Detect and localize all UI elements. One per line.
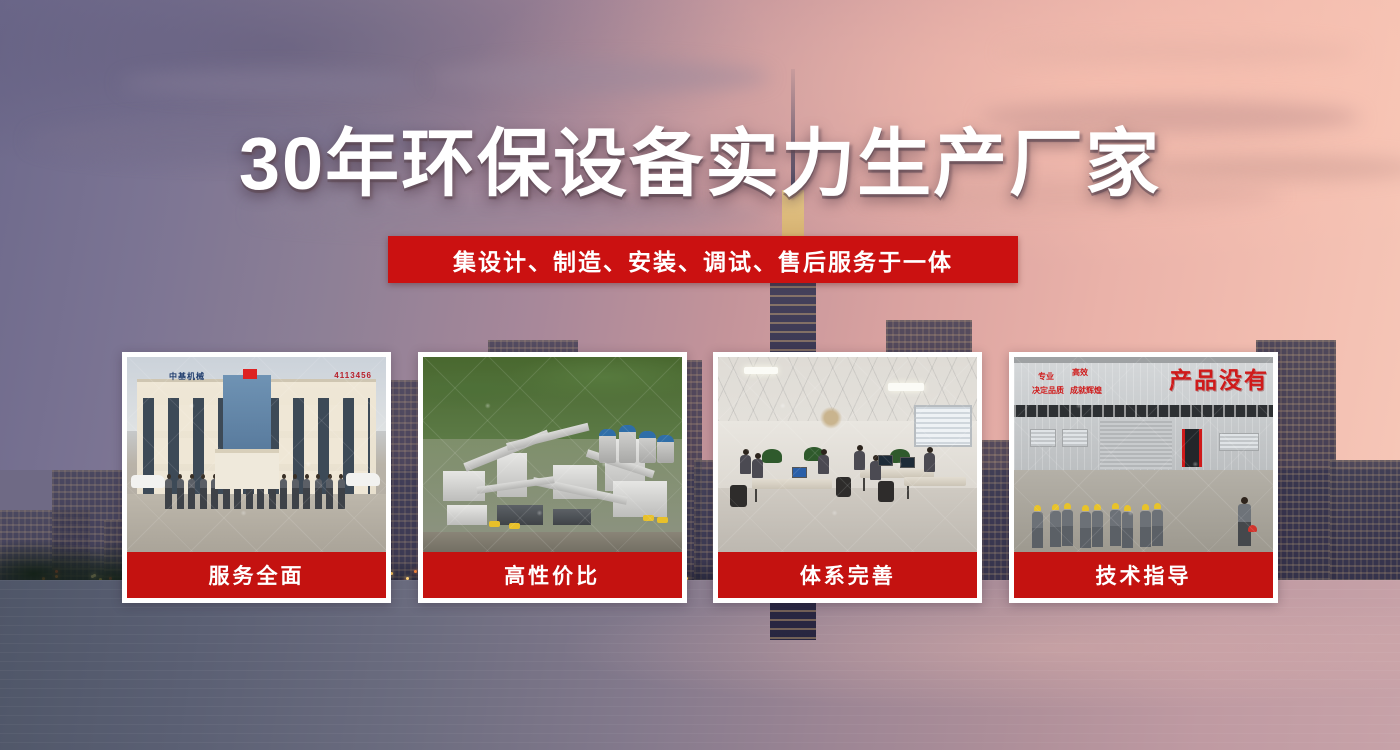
factory-worker xyxy=(1110,510,1121,546)
building-sign-text: 中基机械 xyxy=(169,371,205,382)
computer-monitor xyxy=(792,467,807,478)
card-photo-company-office-building-with-staff: 中基机械 4113456 xyxy=(127,357,386,552)
storage-silo xyxy=(599,429,616,463)
factory-window xyxy=(1030,429,1056,447)
plant-structures xyxy=(437,419,669,529)
red-helmet-icon xyxy=(1248,525,1257,532)
building-phone-text: 4113456 xyxy=(334,371,372,380)
staff-person xyxy=(177,479,184,509)
factory-window xyxy=(1062,429,1088,447)
staff-person xyxy=(280,479,287,509)
card-caption-text: 服务全面 xyxy=(209,560,305,590)
excavator-vehicle xyxy=(643,515,654,521)
factory-worker xyxy=(1062,510,1073,546)
card-caption-bar: 服务全面 xyxy=(127,552,386,598)
staff-person xyxy=(165,479,172,509)
potted-plant xyxy=(762,449,782,463)
staff-person xyxy=(326,479,333,509)
card-caption-text: 技术指导 xyxy=(1095,560,1191,590)
excavator-vehicle xyxy=(509,523,520,529)
parked-car xyxy=(346,473,380,486)
card-photo-aerial-industrial-plant xyxy=(423,357,682,552)
conveyor-belt xyxy=(506,423,589,451)
factory-shutter-door xyxy=(1100,419,1172,469)
plant-shed xyxy=(497,505,543,525)
feature-card[interactable]: 中基机械 4113456 服务全面 xyxy=(122,352,391,603)
staff-person xyxy=(188,479,195,509)
factory-slogan-small: 成就辉煌 xyxy=(1070,385,1102,396)
staff-person xyxy=(292,479,299,509)
factory-worker xyxy=(1152,510,1163,546)
card-caption-bar: 高性价比 xyxy=(423,552,682,598)
card-photo-workers-briefing-at-factory: 产品没有 专业 高效 决定品质 成就辉煌 xyxy=(1014,357,1273,552)
office-desk xyxy=(904,477,966,486)
storage-silo xyxy=(639,431,656,463)
office-window-blinds xyxy=(914,405,972,447)
feature-card[interactable]: 体系完善 xyxy=(713,352,982,603)
factory-worker xyxy=(1140,511,1151,547)
office-worker xyxy=(752,459,763,478)
office-worker xyxy=(854,451,865,470)
excavator-vehicle xyxy=(489,521,500,527)
facade-window-strip xyxy=(1014,405,1273,417)
office-chair xyxy=(730,485,747,507)
card-caption-bar: 技术指导 xyxy=(1014,552,1273,598)
office-desk xyxy=(752,479,832,489)
office-chair xyxy=(878,481,894,502)
storage-silo xyxy=(657,435,674,463)
page-title: 30年环保设备实力生产厂家 xyxy=(0,127,1400,201)
staff-person xyxy=(315,479,322,509)
staff-person xyxy=(338,479,345,509)
storage-silo xyxy=(619,425,636,463)
river-water xyxy=(0,580,1400,750)
plant-road xyxy=(423,532,682,552)
flag-icon xyxy=(243,369,257,379)
silo-cap xyxy=(639,431,656,438)
silo-cap xyxy=(619,425,636,432)
subtitle-banner: 集设计、制造、安装、调试、售后服务于一体 xyxy=(388,236,1018,283)
factory-worker xyxy=(1092,511,1103,547)
office-chair xyxy=(836,477,851,497)
silo-cap xyxy=(599,429,616,436)
factory-slogan-small: 专业 xyxy=(1038,371,1054,382)
office-worker xyxy=(740,455,751,474)
entrance-porch xyxy=(215,449,279,489)
card-caption-text: 高性价比 xyxy=(504,560,600,590)
card-caption-text: 体系完善 xyxy=(800,560,896,590)
promo-banner: 30年环保设备实力生产厂家 集设计、制造、安装、调试、售后服务于一体 中基机械 … xyxy=(0,0,1400,750)
staff-person xyxy=(200,479,207,509)
card-caption-bar: 体系完善 xyxy=(718,552,977,598)
excavator-vehicle xyxy=(657,517,668,523)
plant-building xyxy=(447,505,487,525)
computer-monitor xyxy=(878,455,893,466)
factory-side-door xyxy=(1182,429,1202,467)
plant-shed xyxy=(553,509,591,525)
subtitle-text: 集设计、制造、安装、调试、售后服务于一体 xyxy=(453,243,953,277)
office-worker xyxy=(818,455,829,474)
factory-slogan-large: 产品没有 xyxy=(1169,361,1269,395)
factory-worker xyxy=(1080,512,1091,548)
factory-slogan-small: 高效 xyxy=(1072,367,1088,378)
silo-cap xyxy=(657,435,674,442)
computer-monitor xyxy=(900,457,915,468)
feature-card[interactable]: 高性价比 xyxy=(418,352,687,603)
feature-card-list: 中基机械 4113456 服务全面 高性价比 xyxy=(122,352,1278,603)
factory-worker xyxy=(1050,511,1061,547)
factory-worker xyxy=(1032,512,1043,548)
parked-car xyxy=(131,475,165,488)
ceiling-light xyxy=(888,383,924,391)
ceiling-light xyxy=(744,367,778,374)
factory-worker xyxy=(1122,512,1133,548)
factory-window xyxy=(1219,433,1259,451)
wall-decal xyxy=(818,407,844,431)
office-worker xyxy=(924,453,935,472)
staff-person xyxy=(303,479,310,509)
factory-slogan-small: 决定品质 xyxy=(1032,385,1064,396)
worker-lineup xyxy=(1032,492,1172,552)
card-photo-office-interior-staff-working xyxy=(718,357,977,552)
feature-card[interactable]: 产品没有 专业 高效 决定品质 成就辉煌 技术指导 xyxy=(1009,352,1278,603)
